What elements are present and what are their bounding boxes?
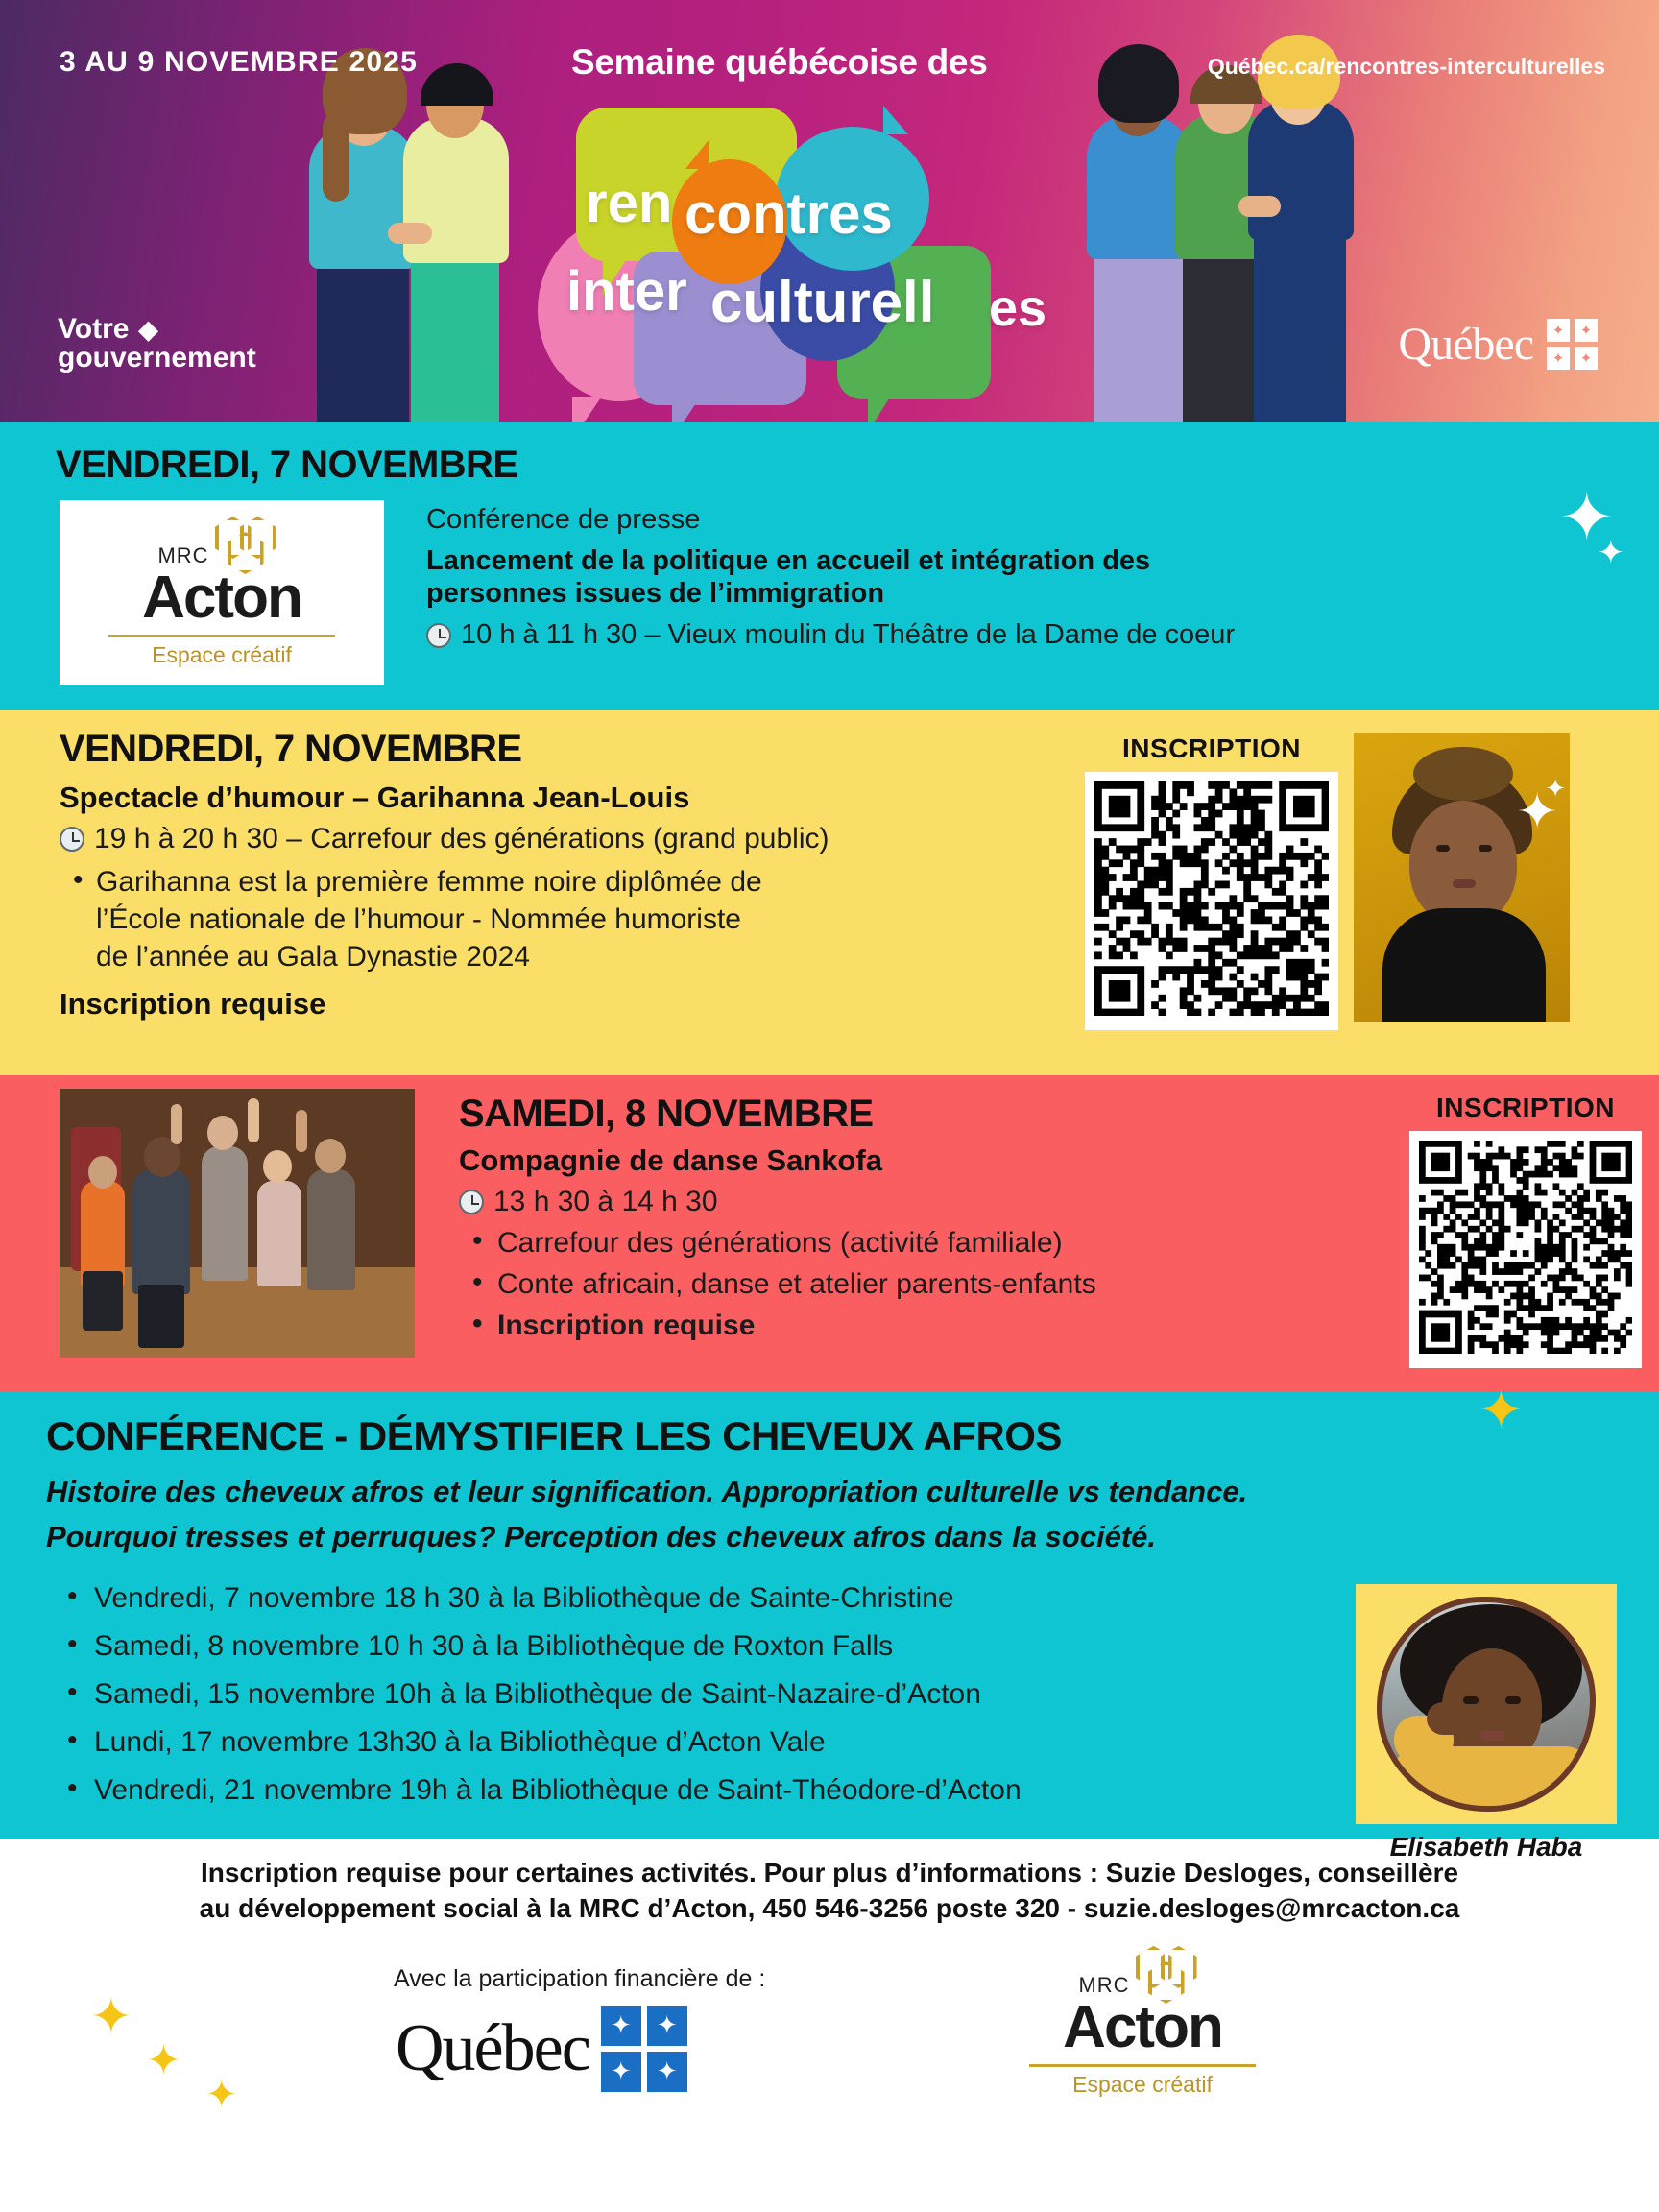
mrc-acton-logo-footer: MRC Acton Espace créatif — [998, 1946, 1286, 2098]
section-humour: VENDREDI, 7 NOVEMBRE Spectacle d’humour … — [0, 710, 1659, 1075]
logo-word-inter: inter — [566, 259, 687, 324]
logo-divider — [108, 635, 335, 637]
logo-word-es: es — [989, 278, 1046, 338]
mrc-acton-logo-card: MRC Acton Espace créatif — [60, 500, 384, 685]
elisabeth-haba-photo — [1356, 1584, 1617, 1824]
humour-qr-code[interactable] — [1085, 772, 1338, 1030]
sankofa-dance-photo — [60, 1089, 415, 1358]
logo-word-ren: ren — [586, 171, 672, 235]
humour-registration-note: Inscription requise — [60, 987, 1085, 1022]
banner-date: 3 AU 9 NOVEMBRE 2025 — [60, 46, 418, 79]
press-time-place-row: 10 h à 11 h 30 – Vieux moulin du Théâtre… — [426, 619, 1235, 651]
poster-root: ren contres inter culturell es 3 AU 9 NO… — [0, 0, 1659, 2212]
quebec-flag-icon-footer: ✦✦✦✦ — [601, 2006, 687, 2092]
sparkle-icon-small: ✦ — [1545, 774, 1566, 804]
acton-tagline: Espace créatif — [93, 642, 350, 668]
conference-title: CONFÉRENCE - DÉMYSTIFIER LES CHEVEUX AFR… — [46, 1413, 1659, 1459]
footer-contact-line-2: au développement social à la MRC d’Acton… — [38, 1890, 1621, 1927]
gov-line-1: Votre — [58, 315, 129, 344]
quebec-flag-icon: ✦✦✦✦ — [1547, 319, 1598, 370]
sankofa-bullet-1: Conte africain, danse et atelier parents… — [459, 1268, 1096, 1301]
funding-note: Avec la participation financière de : — [394, 1965, 765, 1993]
humour-qr-label: INSCRIPTION — [1085, 733, 1338, 764]
humour-bio-line-1: Garihanna est la première femme noire di… — [96, 866, 762, 898]
sankofa-qr-label: INSCRIPTION — [1409, 1093, 1642, 1123]
logo-word-culturell: culturell — [710, 269, 934, 335]
humour-subtitle: Spectacle d’humour – Garihanna Jean-Loui… — [60, 781, 1085, 815]
acton-tagline-footer: Espace créatif — [998, 2072, 1286, 2098]
banner-url[interactable]: Québec.ca/rencontres-interculturelles — [1208, 54, 1605, 80]
humour-bio-line-3: de l’année au Gala Dynastie 2024 — [96, 941, 530, 973]
humour-bio: Garihanna est la première femme noire di… — [60, 863, 1085, 975]
press-title-line-1: Lancement de la politique en accueil et … — [426, 544, 1235, 577]
humour-time-row: 19 h à 20 h 30 – Carrefour des génératio… — [60, 823, 1085, 855]
garihanna-photo: ✦ ✦ — [1354, 733, 1570, 1022]
banner-subtitle: Semaine québécoise des — [571, 42, 987, 83]
quebec-logo-footer: Québec ✦✦✦✦ — [396, 2006, 687, 2092]
fleur-de-lys-icon: ◆ — [138, 317, 157, 342]
logo-divider-footer — [1029, 2064, 1256, 2067]
sankofa-time-row: 13 h 30 à 14 h 30 — [459, 1186, 1096, 1218]
sankofa-bullet-2: Inscription requise — [459, 1310, 1096, 1342]
press-title-line-2: personnes issues de l’immigration — [426, 577, 1235, 610]
section-press-conference: VENDREDI, 7 NOVEMBRE MRC Acton Espace cr… — [0, 422, 1659, 710]
event-banner: ren contres inter culturell es 3 AU 9 NO… — [0, 0, 1659, 422]
humour-bio-line-2: l’École nationale de l’humour - Nommée h… — [96, 903, 741, 935]
speaker-name: Elisabeth Haba — [1356, 1832, 1617, 1863]
press-day-title: VENDREDI, 7 NOVEMBRE — [56, 444, 1659, 487]
sankofa-subtitle: Compagnie de danse Sankofa — [459, 1143, 1096, 1178]
conference-lead-line-1: Histoire des cheveux afros et leur signi… — [46, 1473, 1659, 1512]
quebec-wordmark-footer: Québec — [396, 2010, 589, 2087]
acton-wordmark: Acton — [93, 570, 350, 627]
press-time-place: 10 h à 11 h 30 – Vieux moulin du Théâtre… — [461, 619, 1235, 651]
footer-logos: ✦ ✦ ✦ Avec la participation financière d… — [0, 1938, 1659, 2130]
sankofa-time: 13 h 30 à 14 h 30 — [493, 1186, 718, 1218]
hexagon-icon — [215, 517, 286, 570]
logo-word-contres: contres — [685, 180, 893, 247]
conference-lead-line-2: Pourquoi tresses et perruques? Perceptio… — [46, 1518, 1659, 1557]
sankofa-bullet-0: Carrefour des générations (activité fami… — [459, 1227, 1096, 1260]
press-kicker: Conférence de presse — [426, 504, 1235, 536]
clock-icon — [426, 623, 451, 648]
section-sankofa: SAMEDI, 8 NOVEMBRE Compagnie de danse Sa… — [0, 1075, 1659, 1392]
gov-line-2: gouvernement — [58, 344, 256, 373]
votre-gouvernement-logo: Votre ◆ gouvernement — [58, 315, 256, 373]
humour-day-title: VENDREDI, 7 NOVEMBRE — [60, 728, 1085, 771]
acton-wordmark-footer: Acton — [998, 2000, 1286, 2056]
speaker-block: Elisabeth Haba — [1356, 1584, 1617, 1863]
clock-icon — [60, 827, 84, 852]
quebec-wordmark-banner: Québec ✦✦✦✦ — [1398, 318, 1598, 371]
clock-icon — [459, 1190, 484, 1214]
sankofa-qr-code[interactable] — [1409, 1131, 1642, 1368]
section-conference-afros: ✦ CONFÉRENCE - DÉMYSTIFIER LES CHEVEUX A… — [0, 1392, 1659, 1839]
quebec-wordmark-text: Québec — [1398, 318, 1533, 371]
sankofa-day-title: SAMEDI, 8 NOVEMBRE — [459, 1093, 1096, 1136]
humour-time-place: 19 h à 20 h 30 – Carrefour des génératio… — [94, 823, 829, 855]
hexagon-icon-footer — [1136, 1946, 1207, 2000]
